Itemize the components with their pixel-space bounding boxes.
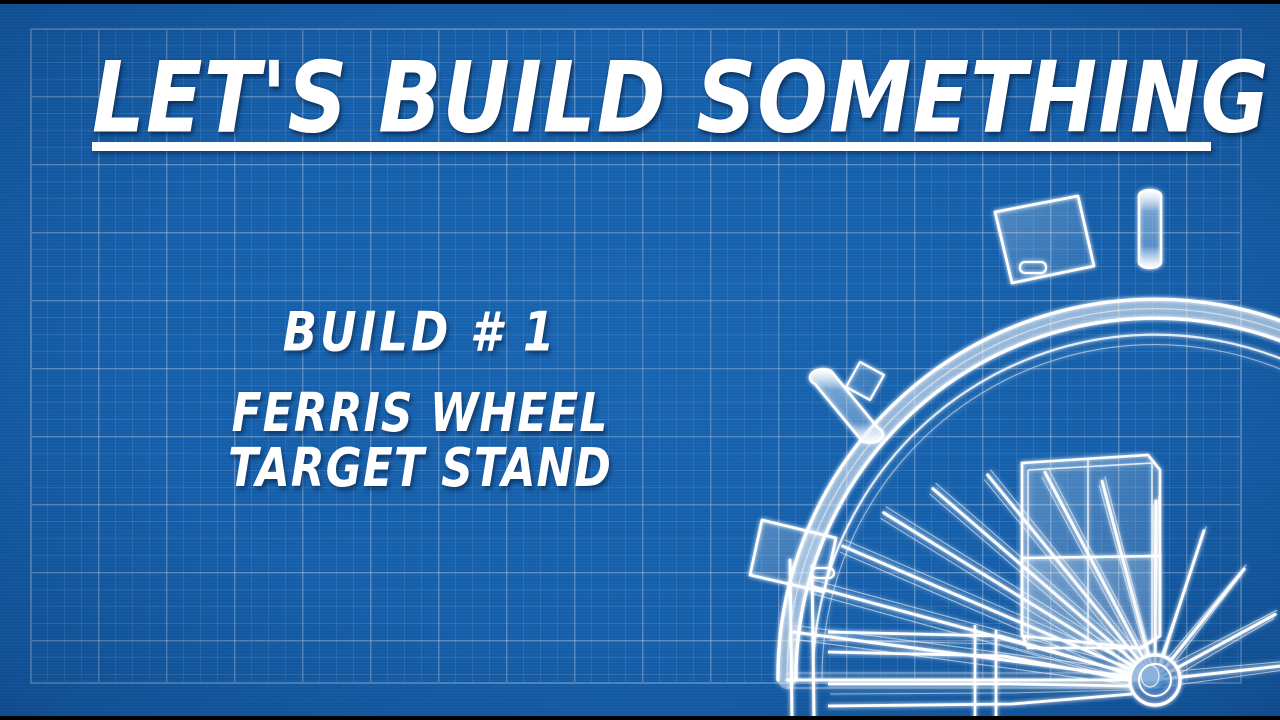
build-number: BUILD # 1 [60,300,780,364]
title-underline [92,142,1211,151]
project-name-line-1: FERRIS WHEEL [60,387,780,442]
project-name: FERRIS WHEEL TARGET STAND [60,387,780,496]
page-title: LET'S BUILD SOMETHING [92,50,1212,146]
project-name-line-2: TARGET STAND [60,442,780,497]
letterbox-bottom [0,716,1280,720]
title-block: LET'S BUILD SOMETHING [92,50,1212,131]
subtitle-block: BUILD # 1 FERRIS WHEEL TARGET STAND [60,300,780,477]
slide-canvas: LET'S BUILD SOMETHING BUILD # 1 FERRIS W… [0,0,1280,720]
letterbox-top [0,0,1280,4]
